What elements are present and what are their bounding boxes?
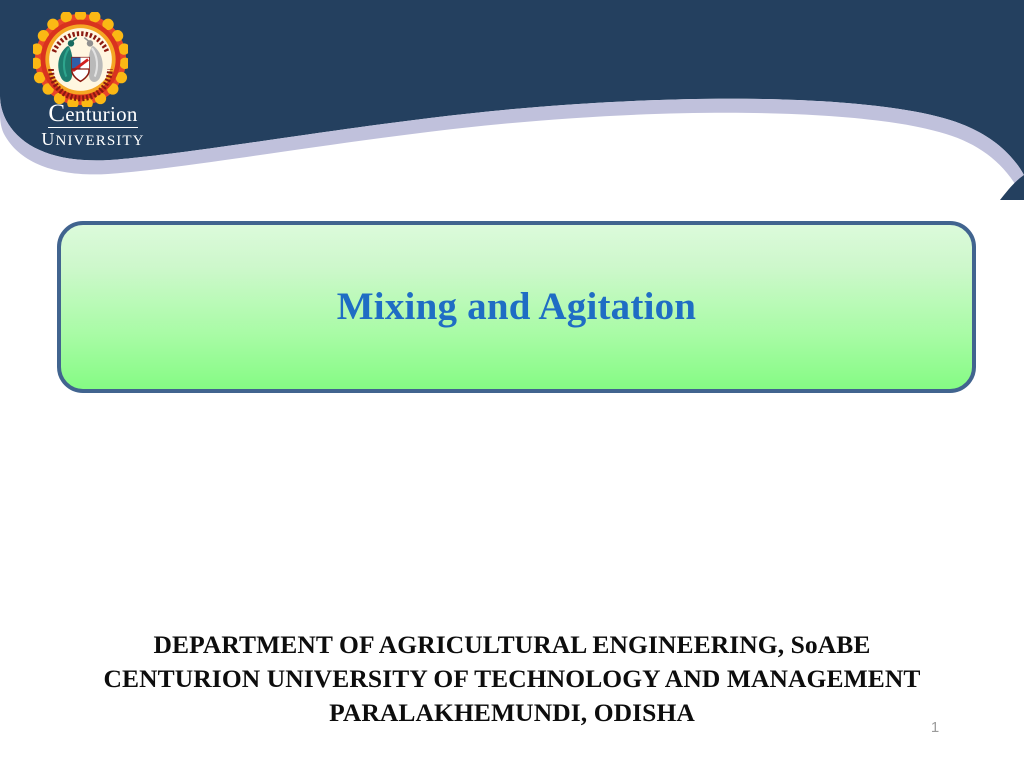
presentation-slide: Centurion UNIVERSITY Mixing and Agitatio…: [0, 0, 1024, 768]
university-logo-icon: [33, 12, 128, 107]
header-banner: [0, 0, 1024, 200]
slide-number: 1: [915, 719, 955, 736]
affiliation-line-location: PARALAKHEMUNDI, ODISHA: [0, 696, 1024, 730]
brand-wordmark: Centurion UNIVERSITY: [28, 101, 158, 149]
brand-centurion-rest: enturion: [65, 102, 137, 126]
header-right-tail: [1000, 175, 1024, 200]
title-card: Mixing and Agitation: [57, 221, 976, 393]
affiliation-line-university: CENTURION UNIVERSITY OF TECHNOLOGY AND M…: [0, 662, 1024, 696]
affiliation-line-department: DEPARTMENT OF AGRICULTURAL ENGINEERING, …: [0, 628, 1024, 662]
brand-name-centurion: Centurion: [48, 101, 137, 128]
brand-centurion-cap: C: [48, 100, 65, 127]
affiliation-block: DEPARTMENT OF AGRICULTURAL ENGINEERING, …: [0, 628, 1024, 730]
brand-university-rest: NIVERSITY: [56, 133, 145, 149]
brand-name-university: UNIVERSITY: [28, 130, 158, 149]
slide-title: Mixing and Agitation: [337, 286, 696, 329]
brand-university-cap: U: [41, 129, 55, 149]
